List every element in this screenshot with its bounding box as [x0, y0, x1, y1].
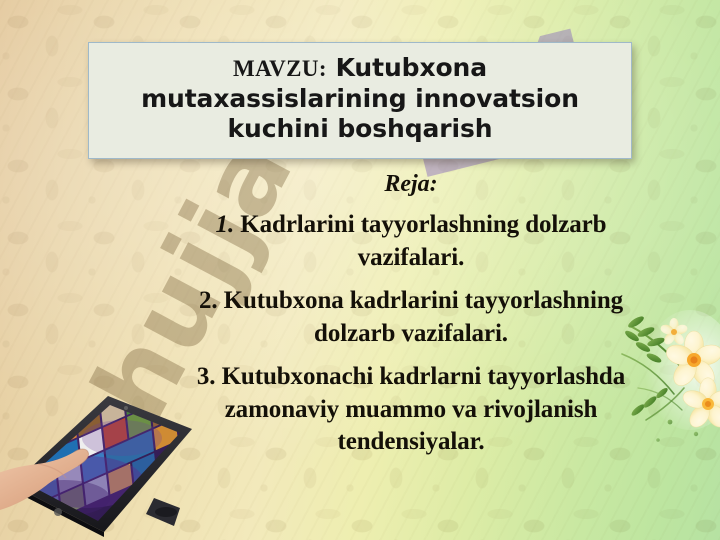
- list-item-text: Kutubxonachi kadrlarni tayyorlashda zamo…: [222, 363, 626, 455]
- title-box: MAVZU: Kutubxona mutaxassislarining inno…: [88, 42, 632, 159]
- list-item: 1. Kadrlarini tayyorlashning dolzarb vaz…: [176, 209, 646, 274]
- slide-title: MAVZU: Kutubxona mutaxassislarining inno…: [105, 53, 615, 145]
- list-item: 2. Kutubxona kadrlarini tayyorlashning d…: [176, 285, 646, 350]
- title-main-label: Kutubxona mutaxassislarining innovatsion…: [141, 53, 579, 143]
- body-text-block: Reja: 1. Kadrlarini tayyorlashning dolza…: [176, 172, 646, 470]
- list-item-number: 1.: [216, 211, 235, 238]
- title-lead-label: MAVZU:: [233, 56, 327, 81]
- list-item: 3. Kutubxonachi kadrlarni tayyorlashda z…: [176, 361, 646, 459]
- list-item-text: Kadrlarini tayyorlashning dolzarb vazifa…: [240, 211, 606, 271]
- reja-heading: Reja:: [176, 172, 646, 196]
- slide-canvas: hujjat 24: [0, 0, 720, 540]
- list-item-number: 3.: [197, 363, 216, 390]
- list-item-number: 2.: [199, 287, 218, 314]
- list-item-text: Kutubxona kadrlarini tayyorlashning dolz…: [224, 287, 623, 347]
